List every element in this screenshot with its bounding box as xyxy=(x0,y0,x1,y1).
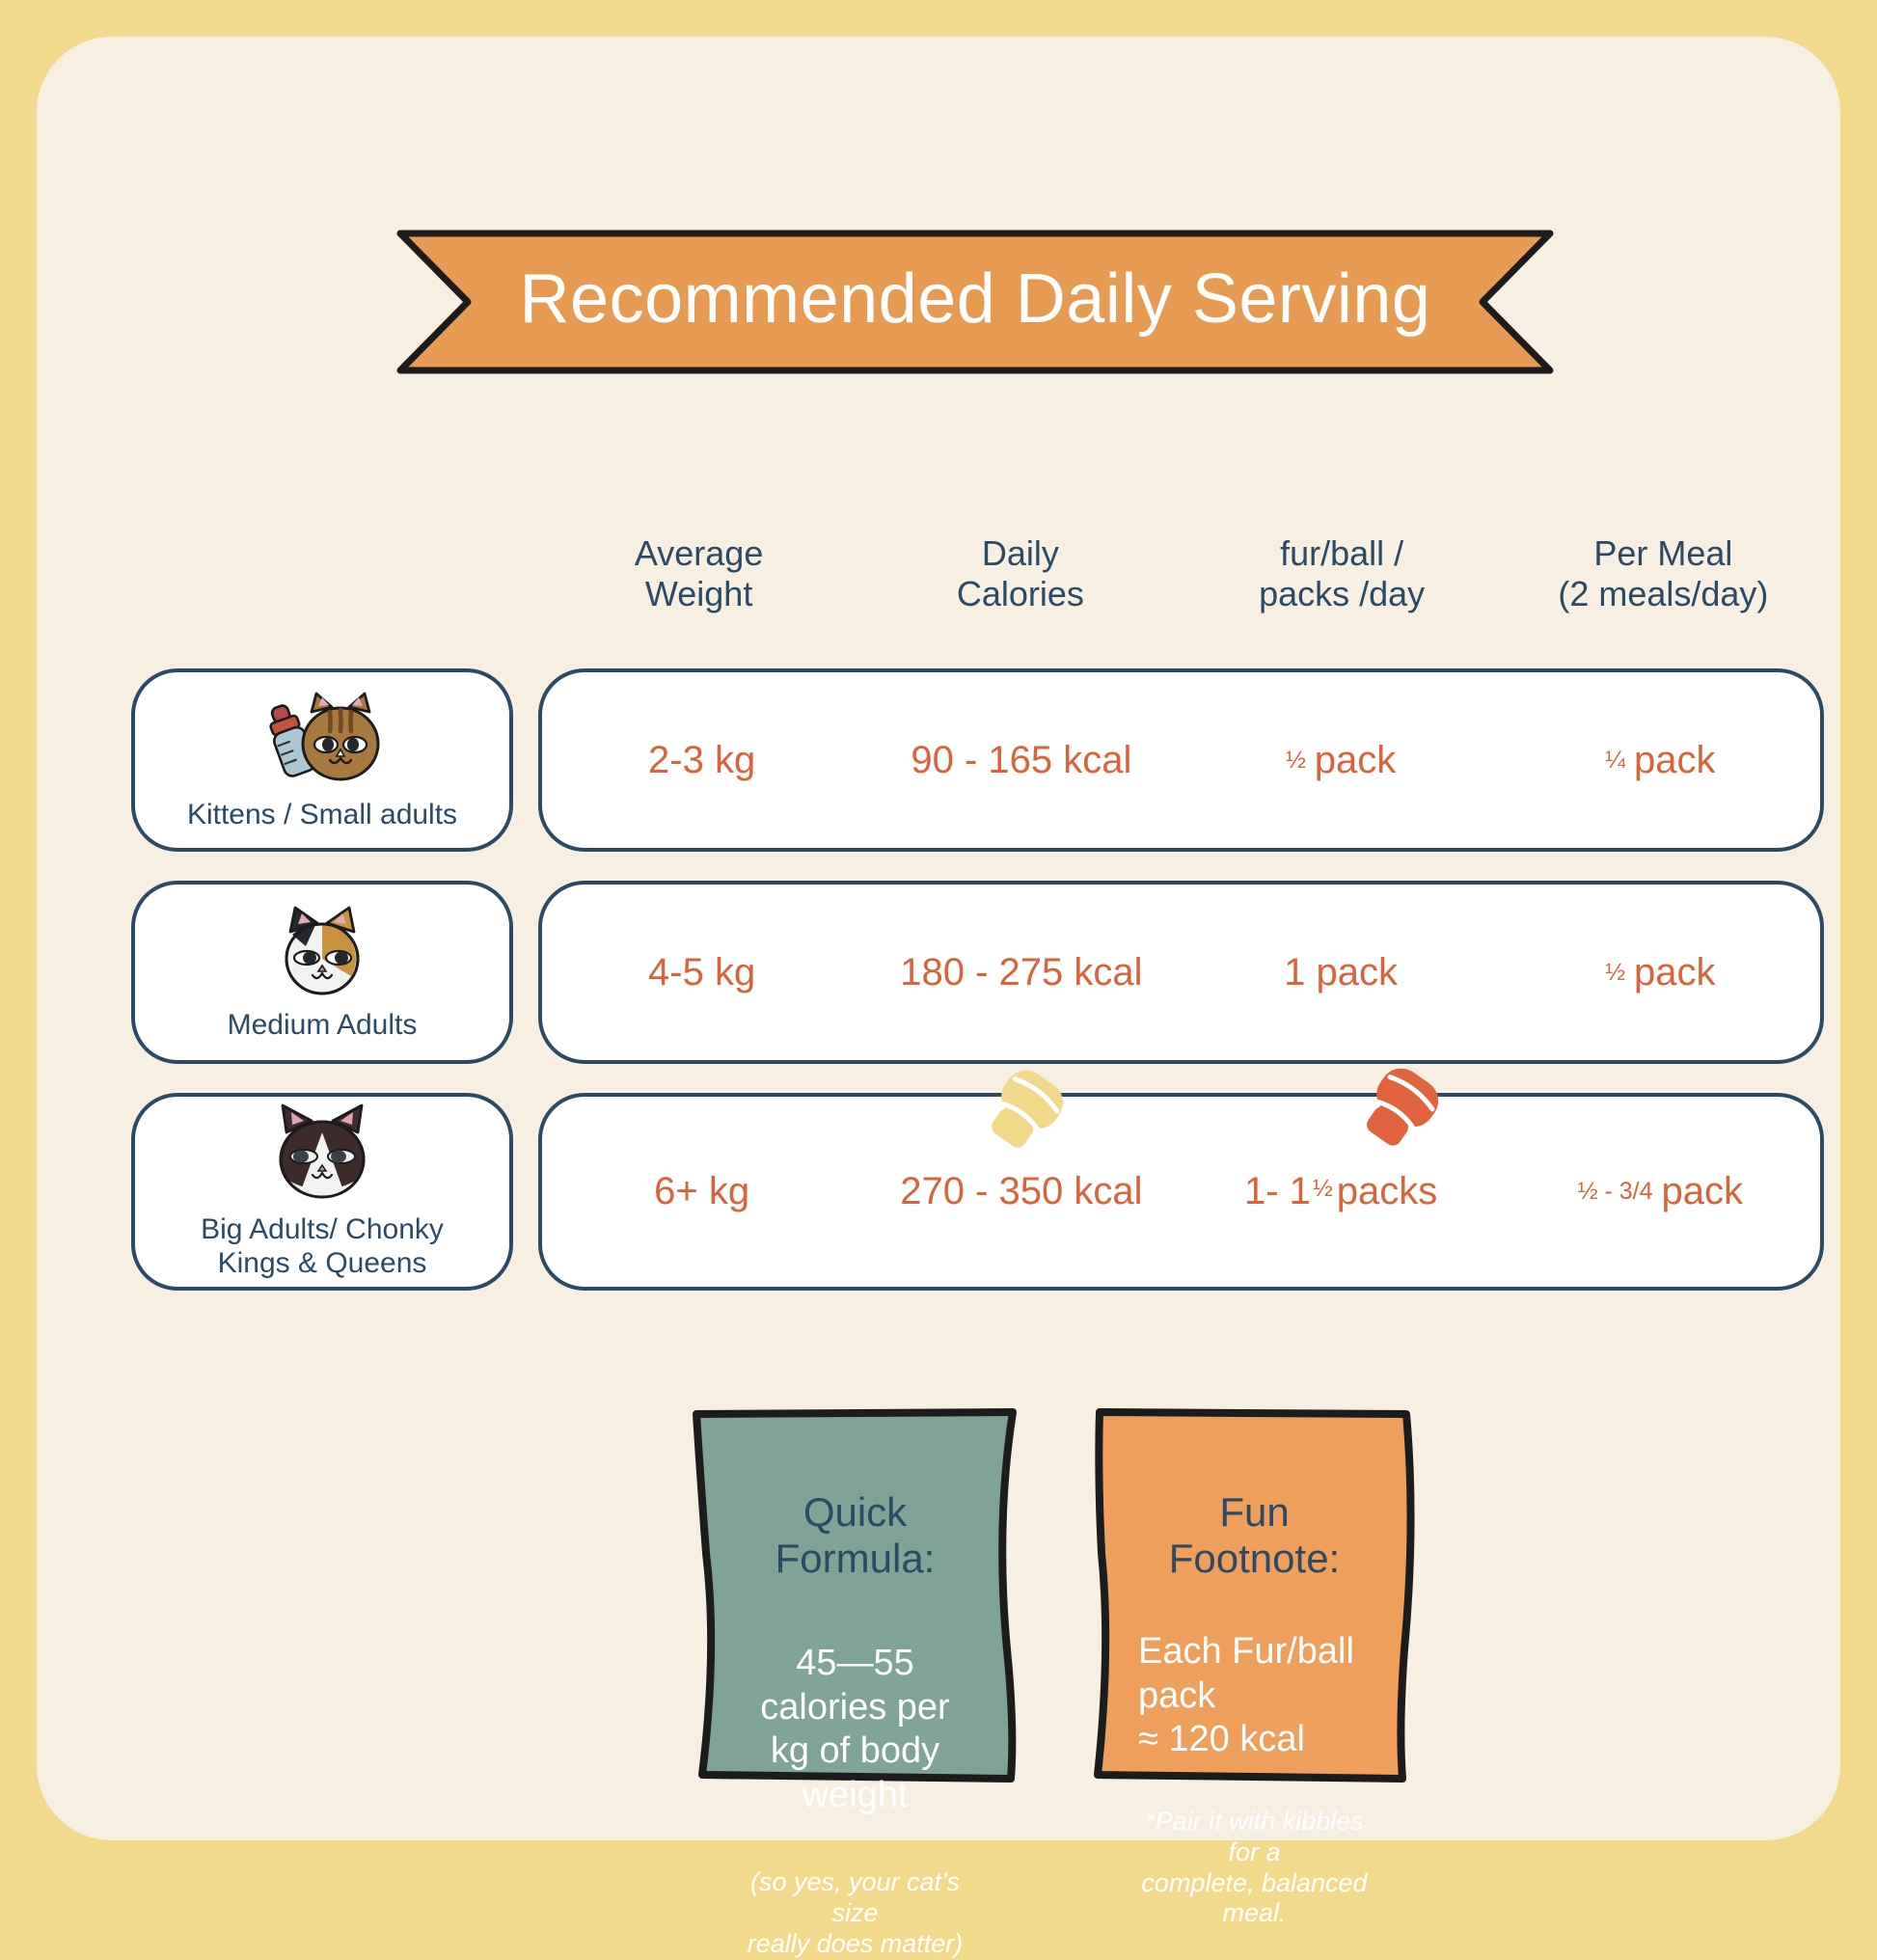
note-body: Each Fur/ball pack ≈ 120 kcal xyxy=(1138,1630,1371,1762)
cell-weight: 2-3 kg xyxy=(542,739,861,782)
row-label-card-kittens: Kittens / Small adults xyxy=(131,668,513,852)
note-content: Quick Formula: 45—55 calories per kg of … xyxy=(689,1408,1021,1784)
unit-label: 1 pack xyxy=(1284,951,1398,994)
note-title: Fun Footnote: xyxy=(1138,1489,1371,1582)
note-footnote: (so yes, your cat’s size really does mat… xyxy=(739,1867,971,1960)
header-packs-per-day: fur/ball / packs /day xyxy=(1182,533,1503,630)
header-line-2: Calories xyxy=(957,574,1084,614)
cell-packs-per-day: ½ pack xyxy=(1182,739,1501,782)
row-label-text: Kittens / Small adults xyxy=(187,799,457,831)
cell-weight: 6+ kg xyxy=(542,1170,861,1213)
header-line-2: (2 meals/day) xyxy=(1558,574,1768,614)
header-line-1: Average xyxy=(635,533,763,574)
row-label-card-medium: Medium Adults xyxy=(131,881,513,1064)
column-headers: Average Weight Daily Calories fur/ball /… xyxy=(538,533,1824,630)
cell-per-meal: ¼ pack xyxy=(1501,739,1820,782)
unit-label: pack xyxy=(1634,951,1716,994)
cell-weight: 4-5 kg xyxy=(542,951,861,994)
fraction-glyph: ½ xyxy=(1605,959,1625,987)
page-title: Recommended Daily Serving xyxy=(396,230,1554,374)
cell-calories: 180 - 275 kcal xyxy=(861,951,1181,994)
kitten-with-bottle-icon xyxy=(260,689,384,793)
sticky-note-quick-formula: Quick Formula: 45—55 calories per kg of … xyxy=(689,1408,1021,1784)
row-data-card-big: 6+ kg 270 - 350 kcal 1- 1 ½ packs ½ - 3/… xyxy=(538,1093,1824,1291)
row-label-card-big: Big Adults/ Chonky Kings & Queens xyxy=(131,1093,513,1291)
cell-per-meal: ½ pack xyxy=(1501,951,1820,994)
unit-label: pack xyxy=(1662,1170,1744,1213)
note-content: Fun Footnote: Each Fur/ball pack ≈ 120 k… xyxy=(1088,1408,1421,1784)
unit-label: pack xyxy=(1315,739,1397,782)
note-title: Quick Formula: xyxy=(739,1489,971,1582)
fraction-glyph: ½ xyxy=(1313,1175,1333,1203)
poster-panel: Recommended Daily Serving Average Weight… xyxy=(37,37,1840,1840)
header-line-1: fur/ball / xyxy=(1280,533,1403,574)
header-line-2: packs /day xyxy=(1259,574,1425,614)
header-average-weight: Average Weight xyxy=(538,533,859,630)
note-footnote: *Pair it with kibbles for a complete, ba… xyxy=(1138,1807,1371,1929)
unit-label: pack xyxy=(1634,739,1716,782)
cell-per-meal: ½ - 3/4 pack xyxy=(1501,1170,1820,1213)
banner: Recommended Daily Serving xyxy=(396,230,1554,374)
row-label-text: Big Adults/ Chonky Kings & Queens xyxy=(201,1213,444,1279)
fraction-glyph: ½ - 3/4 xyxy=(1578,1178,1653,1206)
pushpin-yellow-icon xyxy=(966,1059,1081,1184)
row-label-text: Medium Adults xyxy=(228,1009,418,1042)
sticky-note-fun-footnote: Fun Footnote: Each Fur/ball pack ≈ 120 k… xyxy=(1088,1408,1421,1784)
fraction-glyph: ¼ xyxy=(1605,747,1625,775)
header-line-1: Per Meal xyxy=(1593,533,1732,574)
cell-packs-per-day: 1 pack xyxy=(1182,951,1501,994)
header-line-1: Daily xyxy=(982,533,1059,574)
header-line-2: Weight xyxy=(645,574,752,614)
table-row: Medium Adults 4-5 kg 180 - 275 kcal 1 pa… xyxy=(131,881,1824,1064)
row-data-card-kittens: 2-3 kg 90 - 165 kcal ½ pack ¼ pack xyxy=(538,668,1824,852)
row-data-card-medium: 4-5 kg 180 - 275 kcal 1 pack ½ pack xyxy=(538,881,1824,1064)
cell-calories: 90 - 165 kcal xyxy=(861,739,1181,782)
note-body: 45—55 calories per kg of body weight xyxy=(739,1642,971,1817)
header-per-meal: Per Meal (2 meals/day) xyxy=(1503,533,1824,630)
pushpin-orange-icon xyxy=(1341,1057,1456,1183)
table-row: Kittens / Small adults 2-3 kg 90 - 165 k… xyxy=(131,668,1824,852)
fraction-glyph: ½ xyxy=(1286,747,1306,775)
header-daily-calories: Daily Calories xyxy=(859,533,1181,630)
calico-cat-icon xyxy=(265,903,379,1003)
range-prefix: 1- 1 xyxy=(1244,1170,1311,1213)
tuxedo-cat-icon xyxy=(261,1103,383,1208)
